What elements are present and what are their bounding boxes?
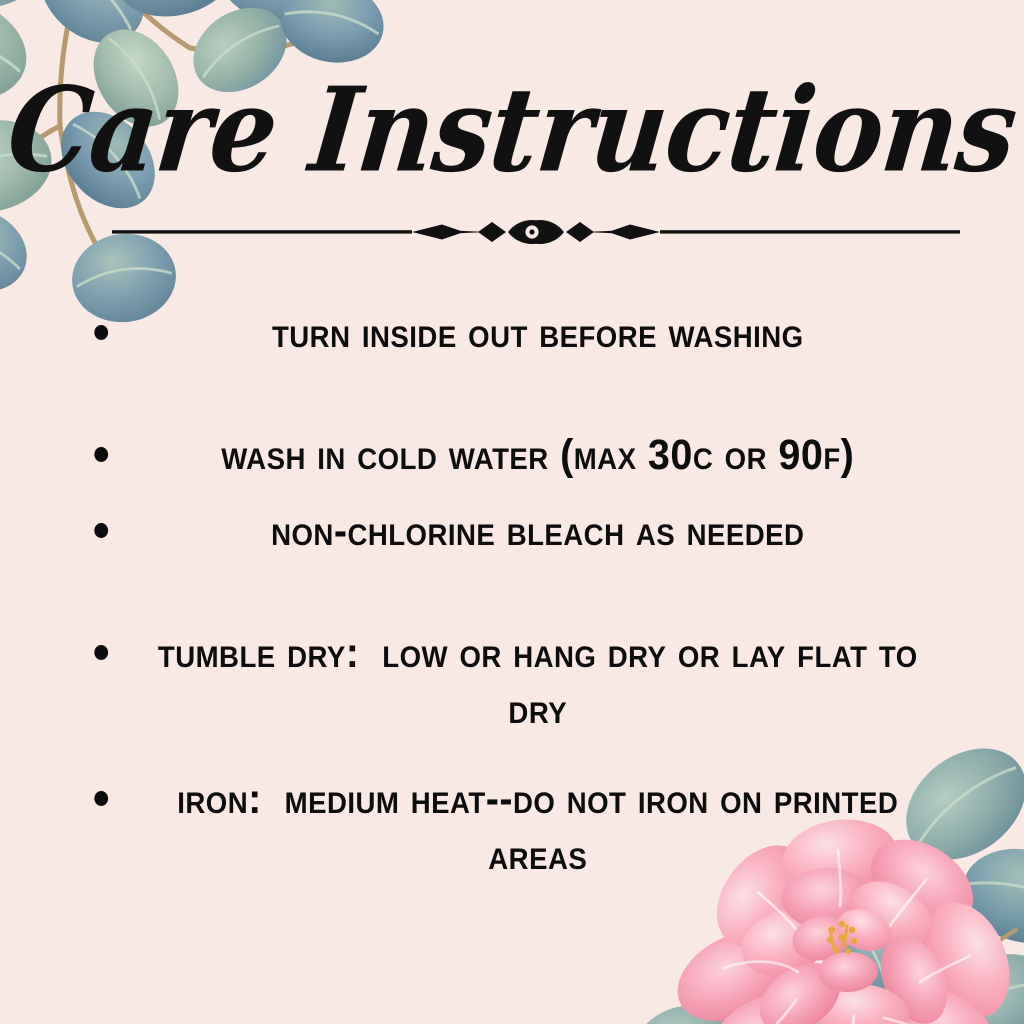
care-item-text: non-chlorine bleach as needed [271,507,804,555]
title-block: Care Instructions [0,78,1024,182]
list-item: tumble dry: low or hang dry or lay flat … [41,625,983,737]
list-item: iron: medium heat--do not iron on printe… [41,771,983,883]
care-item-text: iron: medium heat--do not iron on printe… [177,775,909,879]
stamen-cluster [827,921,857,954]
spacer [0,737,1024,771]
care-instruction-list: turn inside out before washing wash in c… [0,305,1024,883]
spacer [0,483,1024,503]
bullet-icon [94,523,108,538]
spacer [0,361,1024,427]
page-title: Care Instructions [0,72,1024,188]
bullet-icon [94,447,108,462]
bullet-icon [94,791,108,806]
peony-stem [744,930,1016,1024]
care-item-text: turn inside out before washing [272,309,804,357]
bullet-icon [94,645,108,660]
list-item: turn inside out before washing [41,305,983,361]
ornamental-divider [112,214,960,250]
list-item: non-chlorine bleach as needed [41,503,983,559]
care-item-text: wash in cold water (max 30c or 90f) [221,431,854,479]
care-instructions-card: Care Instructions [0,0,1024,1024]
care-item-text: tumble dry: low or hang dry or lay flat … [158,629,929,733]
spacer [0,559,1024,625]
bullet-icon [94,325,108,340]
list-item: wash in cold water (max 30c or 90f) [41,427,983,483]
